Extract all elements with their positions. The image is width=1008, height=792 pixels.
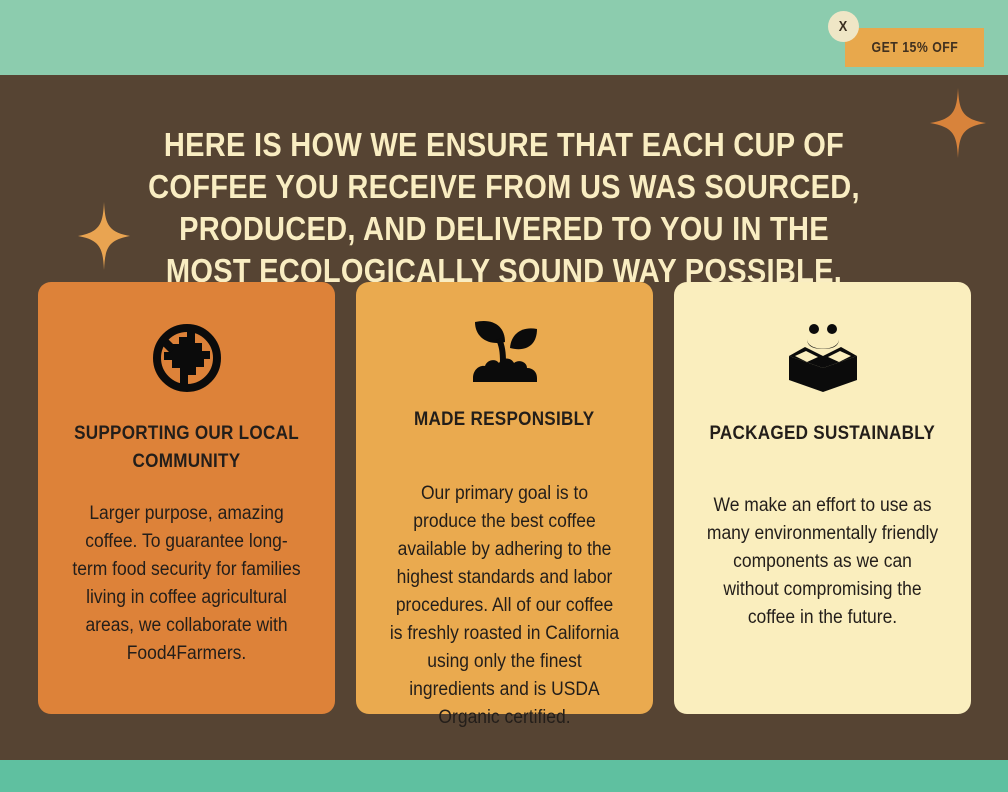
open-box-smile-icon (785, 316, 861, 400)
close-icon-label: X (839, 18, 848, 35)
sparkle-icon (930, 88, 986, 163)
promo-page: X GET 15% OFF Here is how we ensure that… (0, 0, 1008, 792)
feature-cards: Supporting our local community Larger pu… (38, 282, 971, 714)
feature-card-body: We make an effort to use as many environ… (706, 492, 939, 632)
seedling-icon (467, 316, 543, 386)
feature-card-title: Made responsibly (414, 406, 594, 434)
get-discount-button-label: GET 15% OFF (871, 39, 958, 56)
sparkle-icon (78, 202, 130, 275)
globe-icon (152, 316, 222, 400)
feature-card-body: Our primary goal is to produce the best … (388, 480, 621, 732)
bottom-band (0, 760, 1008, 792)
feature-card-community[interactable]: Supporting our local community Larger pu… (38, 282, 335, 714)
get-discount-button[interactable]: GET 15% OFF (845, 28, 984, 67)
feature-card-responsibility[interactable]: Made responsibly Our primary goal is to … (356, 282, 653, 714)
feature-card-title: Supporting our local community (73, 420, 301, 476)
page-headline: Here is how we ensure that each cup of c… (134, 124, 873, 292)
feature-card-body: Larger purpose, amazing coffee. To guara… (70, 500, 303, 668)
feature-card-packaging[interactable]: Packaged sustainably We make an effort t… (674, 282, 971, 714)
feature-card-title: Packaged sustainably (710, 420, 936, 448)
close-icon[interactable]: X (828, 11, 859, 42)
